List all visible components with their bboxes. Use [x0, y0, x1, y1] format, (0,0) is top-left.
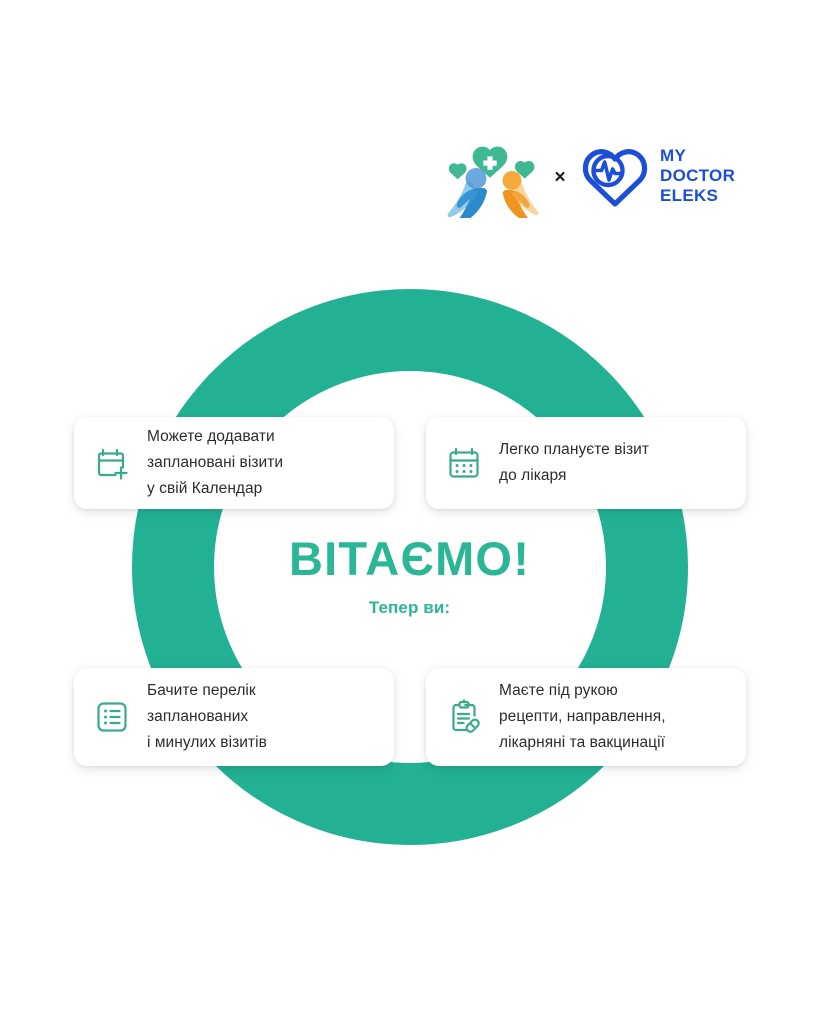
card-line-3: і минулих візитів: [147, 730, 267, 756]
feature-card-plan-doctor-visit[interactable]: Легко плануєте візит до лікаря: [426, 417, 746, 509]
card-line-1: Легко плануєте візит: [499, 437, 649, 463]
clipboard-pill-icon: [442, 695, 486, 739]
heart-pulse-icon: [579, 140, 651, 212]
feature-card-text: Маєте під рукою рецепти, направлення, лі…: [499, 678, 666, 755]
brand-line-2: DOCTOR: [660, 166, 735, 186]
welcome-screen: × MY DOCTOR ELEKS ВІТАЄМО! Тепер ви:: [0, 0, 819, 1024]
card-line-2: заплановані візити: [147, 450, 283, 476]
logo-bar: × MY DOCTOR ELEKS: [445, 126, 765, 226]
card-line-2: запланованих: [147, 704, 267, 730]
calendar-dots-icon: [442, 441, 486, 485]
feature-card-prescriptions[interactable]: Маєте під рукою рецепти, направлення, лі…: [426, 668, 746, 766]
feature-card-text: Бачите перелік запланованих і минулих ві…: [147, 678, 267, 755]
card-line-2: до лікаря: [499, 463, 649, 489]
feature-card-add-planned-visits[interactable]: Можете додавати заплановані візити у сві…: [74, 417, 394, 509]
my-doctor-eleks-logo: MY DOCTOR ELEKS: [579, 140, 735, 212]
list-icon: [90, 695, 134, 739]
feature-card-text: Можете додавати заплановані візити у сві…: [147, 424, 283, 501]
card-line-3: у свій Календар: [147, 476, 283, 502]
brand-wordmark: MY DOCTOR ELEKS: [660, 146, 735, 206]
feature-card-visits-list[interactable]: Бачите перелік запланованих і минулих ві…: [74, 668, 394, 766]
brand-line-1: MY: [660, 146, 735, 166]
brand-line-3: ELEKS: [660, 186, 735, 206]
card-line-1: Маєте під рукою: [499, 678, 666, 704]
people-hearts-logo: [445, 134, 541, 218]
calendar-plus-icon: [90, 441, 134, 485]
cross-symbol: ×: [541, 168, 579, 187]
card-line-2: рецепти, направлення,: [499, 704, 666, 730]
feature-card-text: Легко плануєте візит до лікаря: [499, 437, 649, 488]
card-line-1: Бачите перелік: [147, 678, 267, 704]
card-line-1: Можете додавати: [147, 424, 283, 450]
card-line-3: лікарняні та вакцинації: [499, 730, 666, 756]
